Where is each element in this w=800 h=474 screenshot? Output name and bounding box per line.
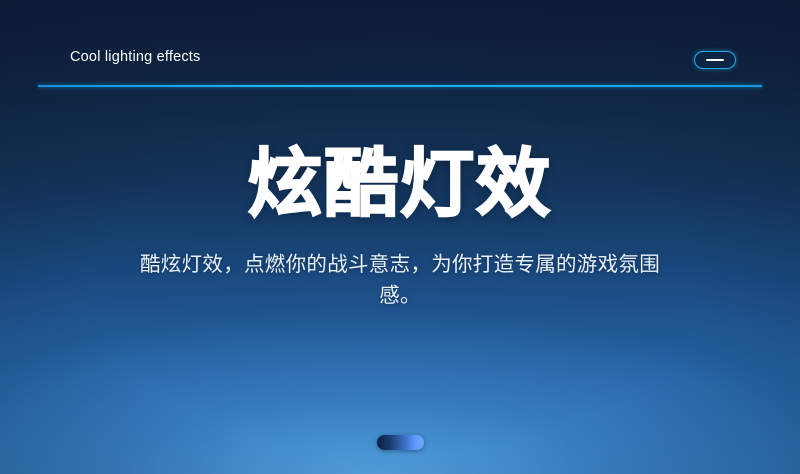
- hero-section: 炫酷灯效 酷炫灯效，点燃你的战斗意志，为你打造专属的游戏氛围感。: [0, 92, 800, 474]
- hero-subtitle: 酷炫灯效，点燃你的战斗意志，为你打造专属的游戏氛围感。: [140, 249, 660, 311]
- page-title: Cool lighting effects: [70, 49, 200, 65]
- lighting-effects-screen: Cool lighting effects 炫酷灯效 酷炫灯效，点燃你的战斗意志…: [0, 0, 800, 474]
- minus-icon: [706, 59, 724, 61]
- hero-title: 炫酷灯效: [0, 144, 800, 224]
- collapse-button[interactable]: [694, 51, 736, 69]
- header-bar: Cool lighting effects: [0, 0, 800, 92]
- header-divider: [38, 85, 762, 87]
- gradient-pill-indicator[interactable]: [377, 435, 424, 450]
